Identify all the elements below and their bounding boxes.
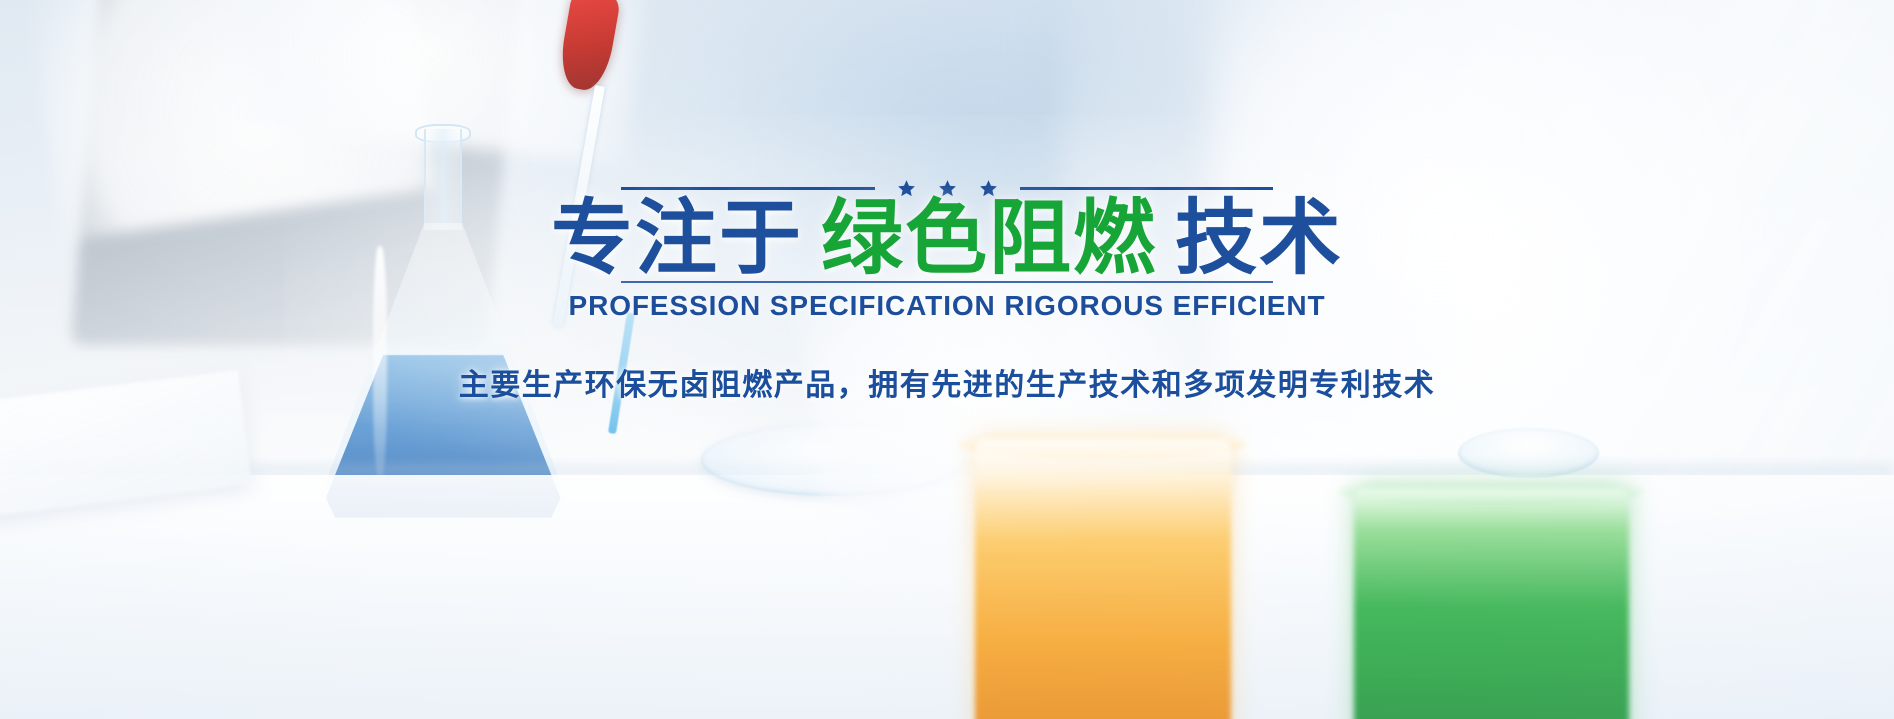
orange-beaker: [975, 439, 1231, 719]
flask-highlight: [373, 246, 387, 479]
flask-neck: [424, 129, 462, 230]
erlenmeyer-flask: [326, 129, 561, 517]
hero-banner: 专注于绿色阻燃技术 PROFESSION SPECIFICATION RIGOR…: [0, 0, 1894, 719]
green-beaker: [1354, 489, 1629, 719]
petri-dish-right: [1458, 428, 1598, 478]
laboratory-background-photo: [0, 0, 1894, 719]
